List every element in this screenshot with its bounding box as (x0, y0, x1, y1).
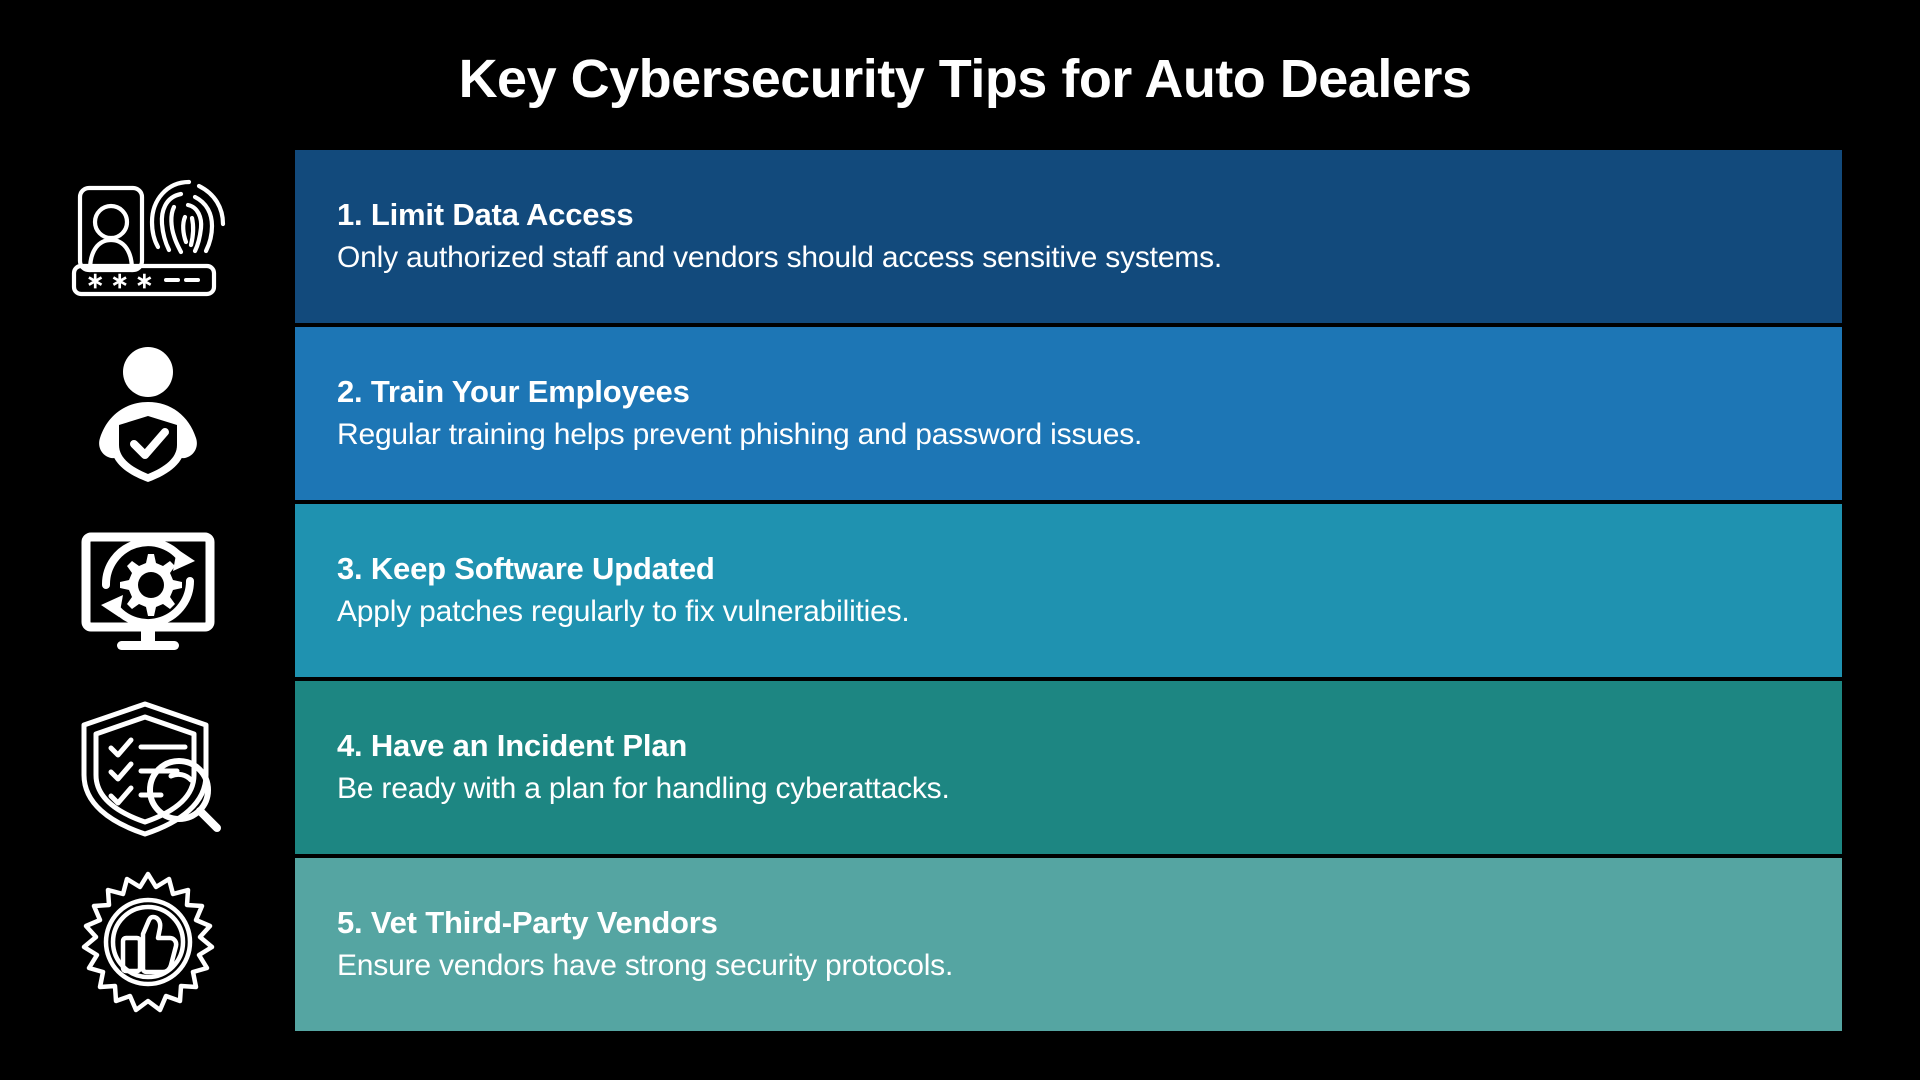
tip-title-2: 2. Train Your Employees (337, 373, 1842, 412)
tip-row-2[interactable]: 2. Train Your Employees Regular training… (0, 327, 1920, 500)
monitor-gear-update-icon (73, 523, 223, 659)
tip-row-3[interactable]: 3. Keep Software Updated Apply patches r… (0, 504, 1920, 677)
badge-thumbs-up-icon (73, 870, 223, 1020)
id-card-fingerprint-password-icon: ∗ ∗ ∗ (68, 174, 228, 300)
tip-row-5[interactable]: 5. Vet Third-Party Vendors Ensure vendor… (0, 858, 1920, 1031)
tip-icon-cell-5 (0, 858, 295, 1031)
tip-description-3: Apply patches regularly to fix vulnerabi… (337, 592, 1842, 631)
tips-list: ∗ ∗ ∗ 1. Limit Data Access Only authoriz… (0, 150, 1920, 1050)
tip-title-4: 4. Have an Incident Plan (337, 727, 1842, 766)
tip-band-3: 3. Keep Software Updated Apply patches r… (295, 504, 1842, 677)
tip-description-1: Only authorized staff and vendors should… (337, 238, 1842, 277)
tip-icon-cell-2 (0, 327, 295, 500)
tip-description-5: Ensure vendors have strong security prot… (337, 946, 1842, 985)
svg-text:∗ ∗ ∗: ∗ ∗ ∗ (86, 268, 154, 293)
tip-band-5: 5. Vet Third-Party Vendors Ensure vendor… (295, 858, 1842, 1031)
tip-icon-cell-1: ∗ ∗ ∗ (0, 150, 295, 323)
tip-band-4: 4. Have an Incident Plan Be ready with a… (295, 681, 1842, 854)
tip-title-5: 5. Vet Third-Party Vendors (337, 904, 1842, 943)
infographic-canvas: Key Cybersecurity Tips for Auto Dealers (0, 0, 1920, 1080)
tip-band-2: 2. Train Your Employees Regular training… (295, 327, 1842, 500)
shield-checklist-magnifier-icon (73, 698, 223, 838)
tip-title-3: 3. Keep Software Updated (337, 550, 1842, 589)
tip-row-4[interactable]: 4. Have an Incident Plan Be ready with a… (0, 681, 1920, 854)
person-holding-shield-check-icon (73, 346, 223, 482)
tip-icon-cell-3 (0, 504, 295, 677)
tip-description-2: Regular training helps prevent phishing … (337, 415, 1842, 454)
tip-band-1: 1. Limit Data Access Only authorized sta… (295, 150, 1842, 323)
tip-icon-cell-4 (0, 681, 295, 854)
tip-row-1[interactable]: ∗ ∗ ∗ 1. Limit Data Access Only authoriz… (0, 150, 1920, 323)
tip-description-4: Be ready with a plan for handling cybera… (337, 769, 1842, 808)
tip-title-1: 1. Limit Data Access (337, 196, 1842, 235)
page-title: Key Cybersecurity Tips for Auto Dealers (300, 50, 1630, 109)
